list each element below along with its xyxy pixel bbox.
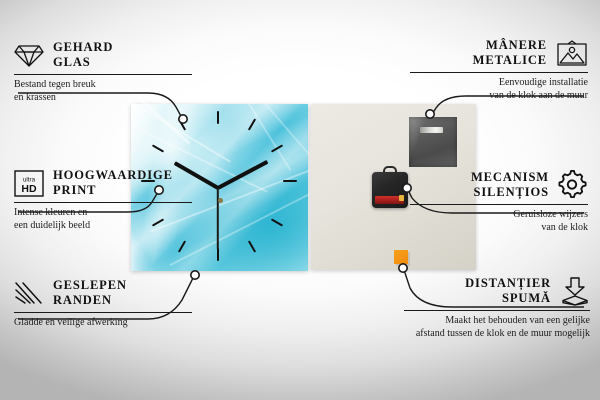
hour-tick (271, 218, 283, 226)
svg-text:HD: HD (21, 183, 37, 195)
feature-mechanism: MECANISM SILENȚIOS Geruisloze wijzers va… (410, 170, 588, 234)
clock-second-hand (217, 188, 219, 250)
feature-title-2: GLAS (53, 55, 113, 70)
feature-tempered-glass: GEHARD GLAS Bestand tegen breuk en krass… (14, 40, 192, 104)
feature-rule (14, 74, 192, 75)
feature-rule (14, 202, 192, 203)
feature-desc-2: een duidelijk beeld (14, 219, 192, 232)
feature-title-2: SPUMĂ (465, 291, 551, 306)
feature-title-2: SILENȚIOS (471, 185, 549, 200)
hour-tick (178, 118, 186, 130)
feature-desc-2: van de klok (410, 221, 588, 234)
feature-print: ultra HD HOOGWAARDIGE PRINT Intense kleu… (14, 168, 192, 232)
feature-desc: Bestand tegen breuk (14, 78, 192, 91)
battery-terminal (399, 195, 404, 201)
hanger-slot (420, 127, 443, 133)
clock-minute-hand (217, 160, 268, 190)
feature-desc: Intense kleuren en (14, 206, 192, 219)
feature-desc: Gladde en veilige afwerking (14, 316, 192, 329)
hour-tick (248, 118, 256, 130)
feature-title: GESLEPEN (53, 278, 127, 293)
feather-streak (221, 59, 292, 170)
feature-desc: Geruisloze wijzers (410, 208, 588, 221)
feature-desc-2: van de klok aan de muur (410, 89, 588, 102)
feature-edges: GESLEPEN RANDEN Gladde en veilige afwerk… (14, 278, 192, 329)
feature-rule (410, 72, 588, 73)
feature-title: DISTANȚIER (465, 276, 551, 291)
ground-edges-icon (14, 280, 44, 306)
metal-hanger-plate (409, 117, 457, 167)
hour-tick (248, 240, 256, 252)
feature-desc: Eenvoudige installatie (410, 76, 588, 89)
diamond-icon (14, 42, 44, 68)
feature-rule (14, 312, 192, 313)
ultra-hd-icon: ultra HD (14, 170, 44, 197)
hour-tick (217, 248, 219, 261)
feature-rule (404, 310, 590, 311)
feature-desc: Maakt het behouden van een gelijke (382, 314, 590, 327)
foam-spacer (394, 250, 408, 264)
feature-desc-2: afstand tussen de klok en de muur mogeli… (382, 327, 590, 340)
press-down-icon (560, 276, 590, 306)
feature-spacer: DISTANȚIER SPUMĂ Maakt het behouden van … (404, 276, 590, 340)
feature-title-2: METALICE (473, 53, 547, 68)
feature-title: MÂNERE (473, 38, 547, 53)
feature-handles: MÂNERE METALICE Eenvoudige installatie v… (410, 38, 588, 102)
feature-title: MECANISM (471, 170, 549, 185)
hour-tick (178, 240, 186, 252)
hour-tick (217, 111, 219, 124)
framed-picture-icon (556, 40, 588, 67)
gear-icon (558, 170, 588, 200)
infographic-canvas: GEHARD GLAS Bestand tegen breuk en krass… (0, 0, 600, 400)
feature-title-2: RANDEN (53, 293, 127, 308)
feature-title-2: PRINT (53, 183, 173, 198)
feature-desc-2: en krassen (14, 91, 192, 104)
feature-title: GEHARD (53, 40, 113, 55)
hour-tick (152, 144, 164, 152)
feature-rule (410, 204, 588, 205)
feature-title: HOOGWAARDIGE (53, 168, 173, 183)
clock-center-cap (218, 198, 223, 203)
feather-streak (245, 81, 318, 165)
wire-endpoint-edges (191, 271, 199, 279)
hour-tick (283, 180, 297, 182)
